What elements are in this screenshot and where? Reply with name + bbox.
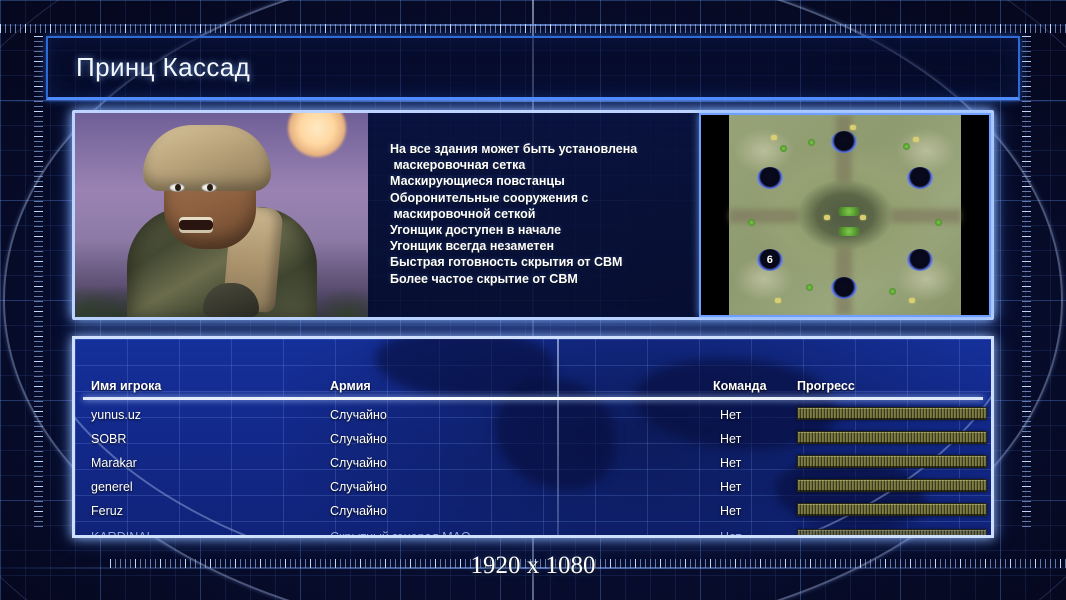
progress-bar <box>797 431 987 444</box>
player-team[interactable]: Нет <box>720 530 741 538</box>
portrait-turban <box>143 125 271 191</box>
start-position-marker <box>757 167 783 189</box>
player-list-panel: Имя игрока Армия Команда Прогресс yunus.… <box>72 336 994 538</box>
table-row[interactable]: generel Случайно Нет <box>75 475 991 501</box>
general-ability-list: На все здания может быть установлена мас… <box>368 113 699 317</box>
resolution-overlay: 1920 x 1080 <box>0 552 1066 580</box>
start-position-marker <box>907 167 933 189</box>
player-name: Marakar <box>91 456 137 470</box>
start-position-marker-6: 6 <box>757 249 783 271</box>
progress-bar <box>797 407 987 420</box>
table-row[interactable]: KARDINAL Скрытный генерал MAO Нет <box>75 525 991 538</box>
ability-line: маскировочной сеткой <box>390 206 689 222</box>
ability-line: маскеровочная сетка <box>390 157 689 173</box>
portrait-eye-left <box>169 183 185 192</box>
window-titlebar: Принц Кассад <box>46 36 1020 100</box>
ability-line: Угонщик доступен в начале <box>390 222 689 238</box>
progress-bar <box>797 479 987 492</box>
portrait-mouth <box>179 217 213 233</box>
column-header-name: Имя игрока <box>91 379 161 393</box>
player-team[interactable]: Нет <box>720 456 741 470</box>
portrait-eye-right <box>201 183 217 192</box>
table-row[interactable]: yunus.uz Случайно Нет <box>75 403 991 429</box>
header-divider <box>83 397 983 400</box>
ability-line: На все здания может быть установлена <box>390 141 689 157</box>
ability-line: Более частое скрытие от СВМ <box>390 271 689 287</box>
page-title: Принц Кассад <box>76 52 250 83</box>
progress-bar <box>797 503 987 516</box>
player-team[interactable]: Нет <box>720 432 741 446</box>
ability-line: Маскирующиеся повстанцы <box>390 173 689 189</box>
table-row[interactable]: SOBR Случайно Нет <box>75 427 991 453</box>
column-header-team: Команда <box>713 379 767 393</box>
player-army[interactable]: Случайно <box>330 504 387 518</box>
general-portrait <box>75 113 368 317</box>
start-position-marker <box>831 277 857 299</box>
ability-line: Быстрая готовность скрытия от СВМ <box>390 254 689 270</box>
start-position-marker <box>907 249 933 271</box>
progress-bar <box>797 455 987 468</box>
column-header-army: Армия <box>330 379 371 393</box>
progress-bar <box>797 529 987 538</box>
skirmish-lobby-window: Принц Кассад На все здания может быть ус… <box>46 36 1020 551</box>
ruler-left <box>34 36 43 528</box>
table-row[interactable]: Marakar Случайно Нет <box>75 451 991 477</box>
ruler-top <box>0 24 1066 33</box>
ability-line: Угонщик всегда незаметен <box>390 238 689 254</box>
player-name: generel <box>91 480 133 494</box>
map-image: 6 <box>729 115 961 315</box>
player-army[interactable]: Случайно <box>330 480 387 494</box>
player-team[interactable]: Нет <box>720 480 741 494</box>
player-team[interactable]: Нет <box>720 408 741 422</box>
player-army[interactable]: Случайно <box>330 432 387 446</box>
map-preview[interactable]: 6 <box>699 113 991 317</box>
player-list-header: Имя игрока Армия Команда Прогресс <box>75 339 991 397</box>
player-army[interactable]: Случайно <box>330 456 387 470</box>
start-position-marker <box>831 131 857 153</box>
player-army[interactable]: Случайно <box>330 408 387 422</box>
table-row[interactable]: Feruz Случайно Нет <box>75 499 991 525</box>
player-name: SOBR <box>91 432 126 446</box>
general-info-panel: На все здания может быть установлена мас… <box>72 110 994 320</box>
ruler-right <box>1022 36 1031 528</box>
sun-glow <box>288 113 346 157</box>
column-header-progress: Прогресс <box>797 379 855 393</box>
ability-line: Оборонительные сооружения с <box>390 190 689 206</box>
player-army[interactable]: Скрытный генерал MAO <box>330 530 471 538</box>
player-name: KARDINAL <box>91 530 154 538</box>
player-name: yunus.uz <box>91 408 141 422</box>
player-name: Feruz <box>91 504 123 518</box>
player-team[interactable]: Нет <box>720 504 741 518</box>
